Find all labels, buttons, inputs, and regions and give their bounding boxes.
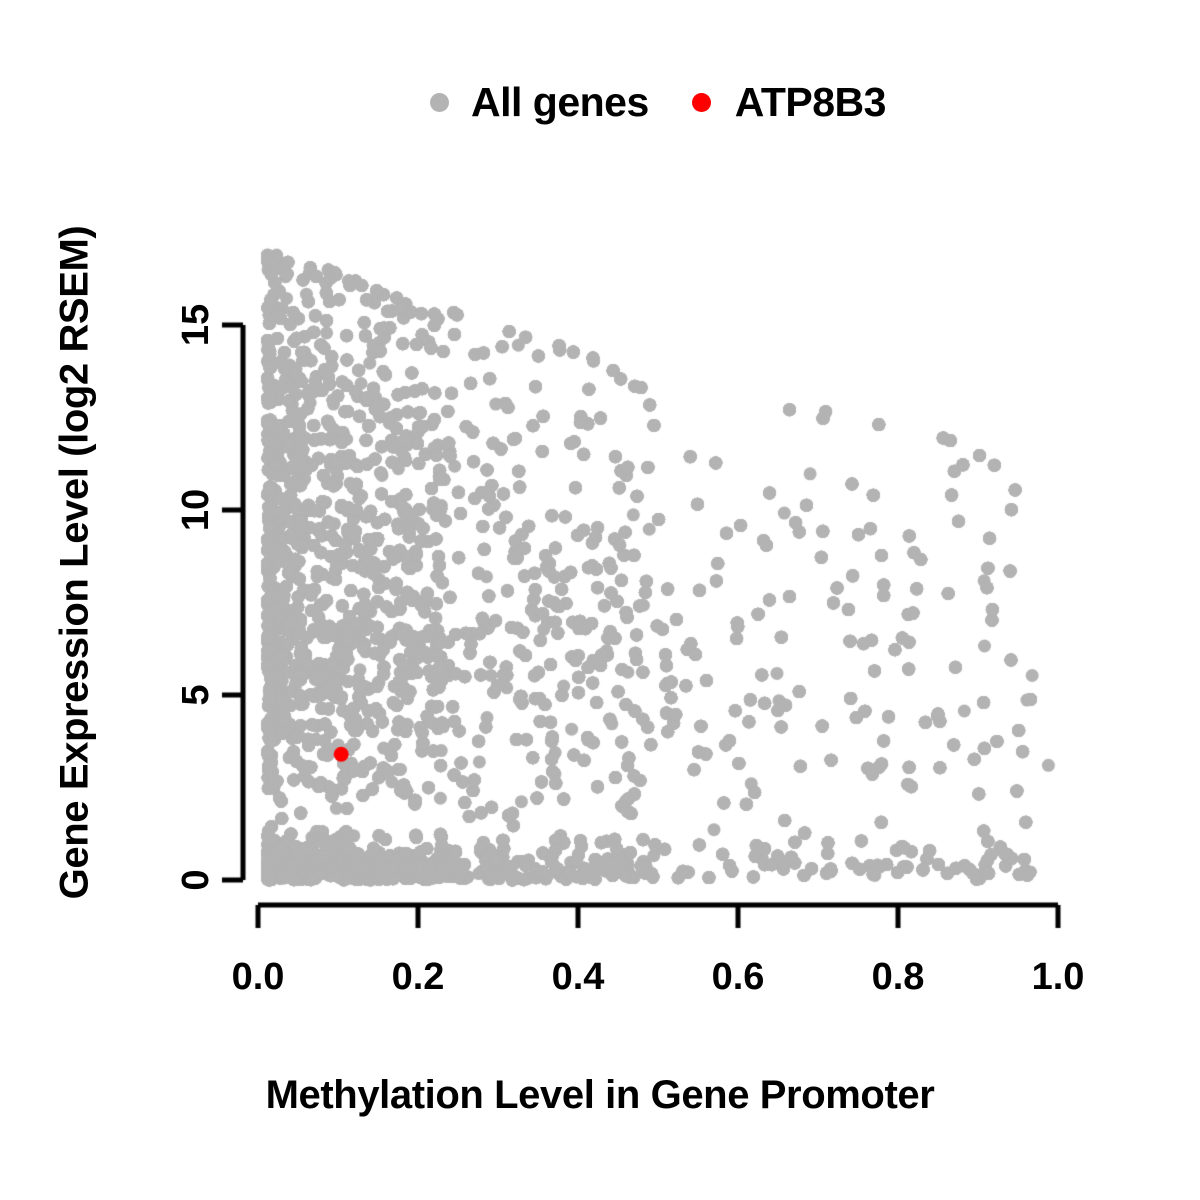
scatter-plot-figure: All genes ATP8B3 Gene Expression Level (… xyxy=(0,0,1200,1200)
y-tick-label: 5 xyxy=(174,635,218,755)
y-tick-label: 0 xyxy=(174,820,218,940)
legend-label-atp8b3: ATP8B3 xyxy=(735,82,886,123)
x-axis-title: Methylation Level in Gene Promoter xyxy=(0,1073,1200,1118)
legend-label-all-genes: All genes xyxy=(471,82,649,123)
legend-marker-all-genes-icon xyxy=(430,93,449,112)
legend-item-atp8b3: ATP8B3 xyxy=(692,82,886,123)
x-tick-label: 0.0 xyxy=(198,958,318,996)
x-tick-label: 1.0 xyxy=(998,958,1118,996)
legend-item-all-genes: All genes xyxy=(430,82,649,123)
legend-marker-atp8b3-icon xyxy=(692,93,711,112)
x-tick-label: 0.6 xyxy=(678,958,798,996)
x-tick-label: 0.8 xyxy=(838,958,958,996)
scatter-plot-canvas xyxy=(0,0,1200,1200)
y-axis-title: Gene Expression Level (log2 RSEM) xyxy=(53,133,98,993)
chart-legend: All genes ATP8B3 xyxy=(430,82,886,123)
y-tick-label: 15 xyxy=(174,265,218,385)
y-tick-label: 10 xyxy=(174,450,218,570)
x-tick-label: 0.4 xyxy=(518,958,638,996)
x-tick-label: 0.2 xyxy=(358,958,478,996)
